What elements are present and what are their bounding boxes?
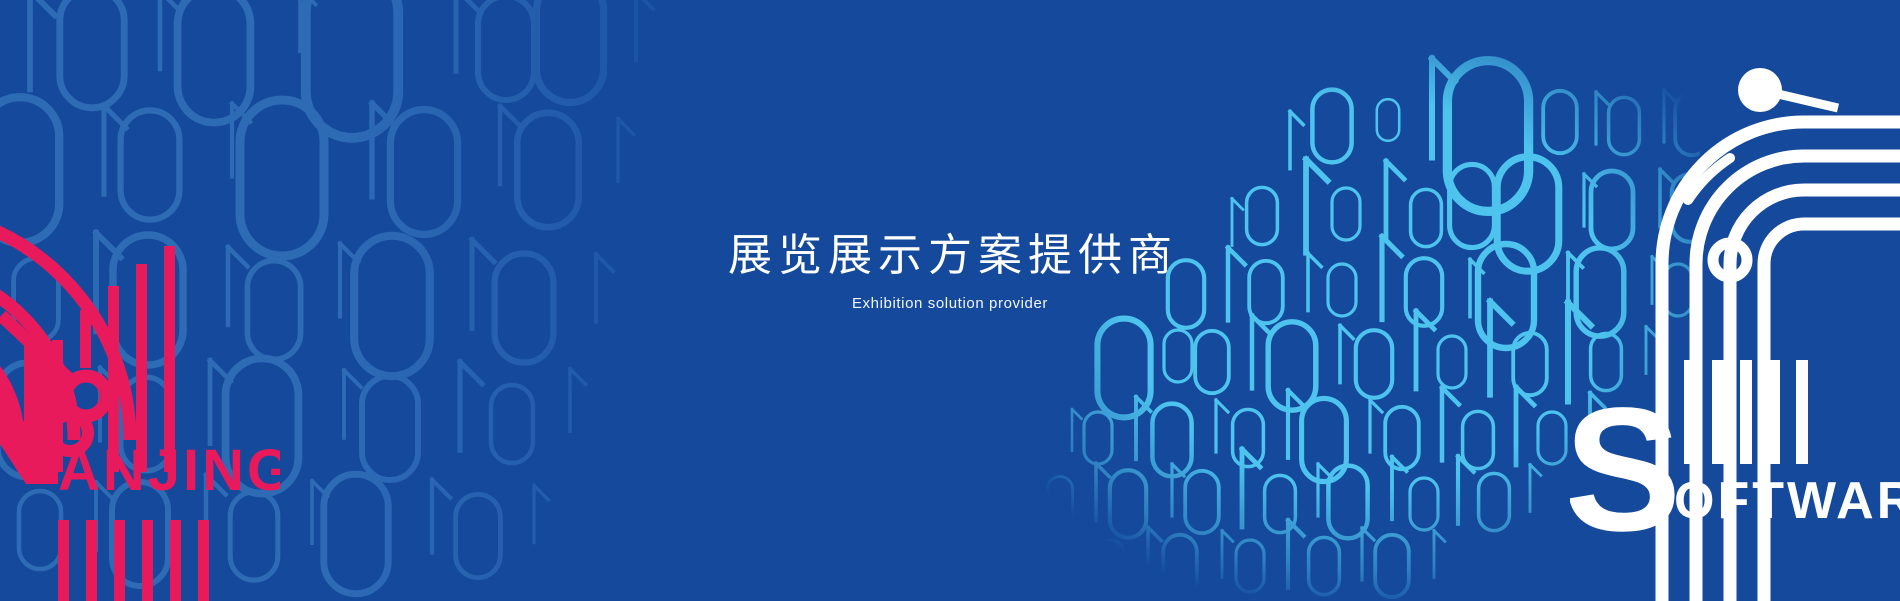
nanjing-letter-n bbox=[0, 342, 58, 484]
software-wordmark: OFTWARE bbox=[1674, 472, 1900, 530]
software-letter-s: S bbox=[1570, 372, 1681, 568]
nanjing-logo: ANJING bbox=[0, 190, 280, 601]
software-node-filled bbox=[1738, 68, 1782, 112]
software-logo: S OFTWARE bbox=[1570, 30, 1900, 601]
software-node-connector bbox=[1778, 94, 1838, 108]
nanjing-bars-lower bbox=[58, 520, 209, 601]
nanjing-wordmark: ANJING bbox=[58, 438, 280, 503]
promo-banner: 展览展示方案提供商 Exhibition solution provider bbox=[0, 0, 1900, 601]
